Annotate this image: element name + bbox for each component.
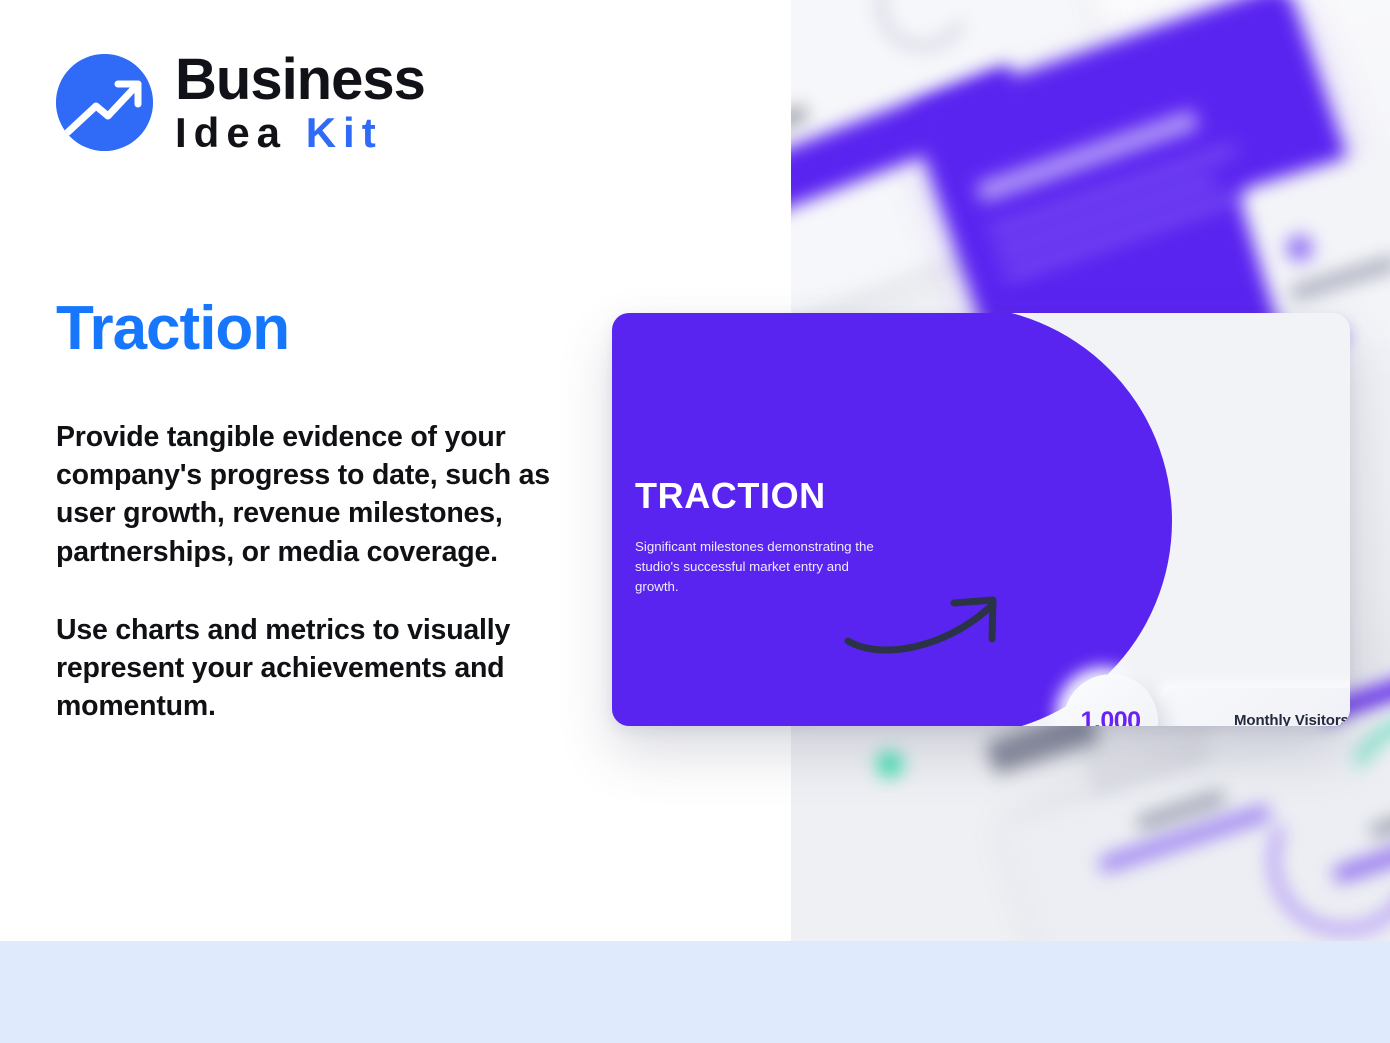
page-title: Traction (56, 296, 289, 361)
brand-wordmark: Business Idea Kit (175, 52, 425, 154)
brand-idea-text: Idea (175, 109, 287, 156)
brand-kit-text: Kit (306, 109, 383, 156)
body-paragraph-1: Provide tangible evidence of your compan… (56, 418, 576, 571)
brand-logo[interactable]: Business Idea Kit (56, 52, 425, 154)
decorative-dot (1283, 232, 1315, 264)
decorative-ring (865, 0, 981, 63)
decorative-text-bar (1290, 256, 1390, 301)
traction-slide-card[interactable]: TRACTION Significant milestones demonstr… (612, 313, 1350, 726)
body-copy: Provide tangible evidence of your compan… (56, 418, 576, 725)
slide-page: Business Idea Kit Traction Provide tangi… (0, 0, 1390, 1043)
metric-label: Monthly Visitors (1234, 712, 1349, 726)
metric-pill: Monthly Visitors (1163, 688, 1350, 726)
metrics-list: Monthly Visitors 1,000 Workshops Held 75… (612, 313, 1350, 726)
growth-chart-circle-icon (56, 54, 153, 151)
brand-line-1: Business (175, 52, 425, 108)
body-paragraph-2: Use charts and metrics to visually repre… (56, 611, 576, 726)
decorative-heading-bar (975, 109, 1199, 203)
bottom-accent-band (0, 941, 1390, 1043)
decorative-dot (873, 748, 906, 781)
metric-bubble: 1,000 (1063, 674, 1158, 726)
brand-line-2: Idea Kit (175, 112, 425, 154)
metric-value: 1,000 (1080, 707, 1140, 726)
